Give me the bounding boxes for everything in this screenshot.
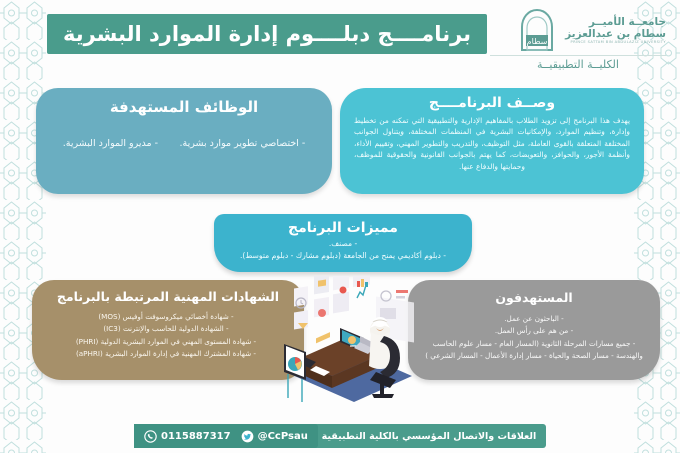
audience-list: - الباحثون عن عمل. - من هم على رأس العمل… <box>420 313 648 363</box>
feature-item: - دبلوم أكاديمي يمنح من الجامعة (دبلوم م… <box>226 250 460 262</box>
certificates-card: الشهادات المهنية المرتبطة بالبرنامج - شه… <box>32 280 304 380</box>
targeted-jobs-title: الوظائف المستهدفة <box>36 88 332 116</box>
certificates-list: - شهادة أخصائي ميكروسوفت أوفيس (MOS) - ا… <box>42 311 290 361</box>
audience-item: - الباحثون عن عمل. <box>420 313 648 325</box>
program-title: برنامــــج دبلــــوم إدارة الموارد البشر… <box>63 22 471 46</box>
audience-item: والهندسة - مسار الصحة والحياة - مسار إدا… <box>420 350 648 362</box>
poster-footer: العلاقات والاتصال المؤسسي بالكلية التطبي… <box>134 424 546 448</box>
university-logo: جامعــة الأميــر سطام بن عبدالعزيز PRINC… <box>490 8 666 78</box>
university-name-line1: جامعــة الأميــر <box>565 16 666 28</box>
program-features-title: مميزات البرنامج <box>214 214 472 236</box>
university-name-english: PRINCE SATTAM BIN ABDULAZIZ UNIVERSITY <box>565 40 666 44</box>
footer-phone-number: 0115887317 <box>161 431 231 442</box>
certificates-title: الشهادات المهنية المرتبطة بالبرنامج <box>32 280 304 304</box>
twitter-bird-icon <box>241 430 254 443</box>
audience-item: - جميع مسارات المرحلة الثانوية (المسار ا… <box>420 338 648 350</box>
program-description-card: وصــف البرنامــــج يهدف هذا البرنامج إلى… <box>340 88 644 194</box>
logo-divider <box>490 55 666 56</box>
university-arch-logo-icon: سطام <box>515 8 559 52</box>
audience-title: المستهدفون <box>408 280 660 305</box>
footer-twitter-handle: @CcPsau <box>258 431 308 442</box>
audience-item: - من هم على رأس العمل. <box>420 325 648 337</box>
certificate-item: - شهادة المستوى المهني في الموارد البشري… <box>42 336 290 348</box>
certificate-item: - الشهادة الدولية للحاسب والإنترنت (IC3) <box>42 323 290 335</box>
twitter-contact[interactable]: @CcPsau <box>241 430 308 443</box>
whatsapp-phone-contact[interactable]: 0115887317 <box>144 430 231 443</box>
program-description-text: يهدف هذا البرنامج إلى تزويد الطلاب بالمف… <box>354 115 630 172</box>
feature-item: - مصنف. <box>226 238 460 250</box>
program-features-list: - مصنف. - دبلوم أكاديمي يمنح من الجامعة … <box>226 238 460 262</box>
job-item: - اختصاصي تطوير موارد بشرية. <box>179 138 305 149</box>
audience-card: المستهدفون - الباحثون عن عمل. - من هم عل… <box>408 280 660 380</box>
footer-contacts: 0115887317 @CcPsau <box>134 424 318 448</box>
college-name: الكليــة التطبيقيــة <box>490 58 666 71</box>
targeted-jobs-list: - اختصاصي تطوير موارد بشرية. - مديرو الم… <box>36 138 332 149</box>
footer-department: العلاقات والاتصال المؤسسي بالكلية التطبي… <box>318 431 546 442</box>
job-item: - مديرو الموارد البشرية. <box>63 138 158 149</box>
program-description-title: وصــف البرنامــــج <box>340 88 644 111</box>
program-title-bar: برنامــــج دبلــــوم إدارة الموارد البشر… <box>47 14 487 54</box>
program-features-card: مميزات البرنامج - مصنف. - دبلوم أكاديمي … <box>214 214 472 272</box>
isometric-office-desk-illustration <box>272 276 422 404</box>
university-name-line2: سطام بن عبدالعزيز <box>565 28 666 40</box>
poster-root: برنامــــج دبلــــوم إدارة الموارد البشر… <box>0 0 680 453</box>
certificate-item: - شهادة أخصائي ميكروسوفت أوفيس (MOS) <box>42 311 290 323</box>
certificate-item: - شهادة المشترك المهنية في إدارة الموارد… <box>42 348 290 360</box>
whatsapp-phone-icon <box>144 430 157 443</box>
poster-header: برنامــــج دبلــــوم إدارة الموارد البشر… <box>0 0 680 84</box>
svg-text:سطام: سطام <box>527 37 548 46</box>
targeted-jobs-card: الوظائف المستهدفة - اختصاصي تطوير موارد … <box>36 88 332 194</box>
